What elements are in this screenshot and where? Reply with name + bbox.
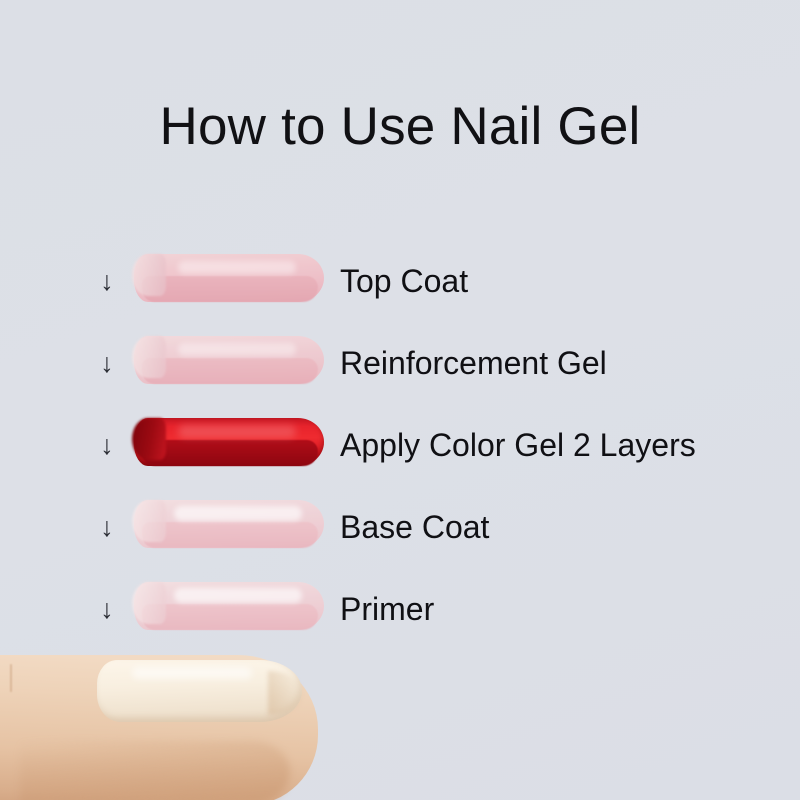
nail-layer-base-coat: [128, 496, 324, 558]
nail-layer-top-coat: [128, 250, 324, 312]
nail-underside-lip: [142, 276, 318, 302]
nail-layer-step: ↓ Top Coat: [0, 250, 800, 332]
nail-gloss-highlight: [178, 343, 296, 356]
nail-layer-step: ↓ Primer: [0, 578, 800, 660]
finger-shading: [20, 741, 290, 800]
nail-layer-step: ↓ Base Coat: [0, 496, 800, 578]
nail-layer-step: ↓ Reinforcement Gel: [0, 332, 800, 414]
arrow-down-icon: ↓: [94, 510, 120, 544]
nail-layer-label: Primer: [340, 587, 434, 631]
nail-gloss-highlight: [174, 506, 302, 521]
arrow-down-icon: ↓: [94, 592, 120, 626]
arrow-down-icon: ↓: [94, 264, 120, 298]
nail-layer-color-gel: [128, 414, 324, 476]
nail-layer-step-list: ↓ Top Coat ↓ Reinforcement Gel ↓: [0, 250, 800, 660]
nail-underside-lip: [142, 358, 318, 384]
nail-cuticle-edge: [132, 418, 166, 460]
nail-cuticle-edge: [132, 582, 166, 624]
nail-gel-instruction-poster: How to Use Nail Gel ↓ Top Coat ↓ Reinfor…: [0, 0, 800, 800]
knuckle-crease-line: [10, 664, 12, 692]
nail-cuticle-edge: [132, 500, 166, 542]
nail-cuticle-edge: [132, 254, 166, 296]
nail-underside-lip: [142, 440, 318, 466]
finger-illustration: [0, 655, 330, 800]
nail-cuticle-edge: [132, 336, 166, 378]
nail-underside-lip: [142, 604, 318, 630]
nail-layer-label: Top Coat: [340, 259, 468, 303]
nail-underside-lip: [142, 522, 318, 548]
nail-gloss-highlight: [178, 425, 296, 438]
arrow-down-icon: ↓: [94, 346, 120, 380]
nail-layer-label: Reinforcement Gel: [340, 341, 607, 385]
natural-nail-highlight: [132, 667, 252, 679]
nail-layer-reinforcement-gel: [128, 332, 324, 394]
page-title: How to Use Nail Gel: [0, 96, 800, 158]
nail-layer-label: Base Coat: [340, 505, 489, 549]
nail-layer-primer: [128, 578, 324, 640]
nail-layer-step: ↓ Apply Color Gel 2 Layers: [0, 414, 800, 496]
nail-gloss-highlight: [178, 261, 296, 274]
nail-layer-label: Apply Color Gel 2 Layers: [340, 423, 696, 467]
nail-gloss-highlight: [174, 588, 302, 603]
arrow-down-icon: ↓: [94, 428, 120, 462]
